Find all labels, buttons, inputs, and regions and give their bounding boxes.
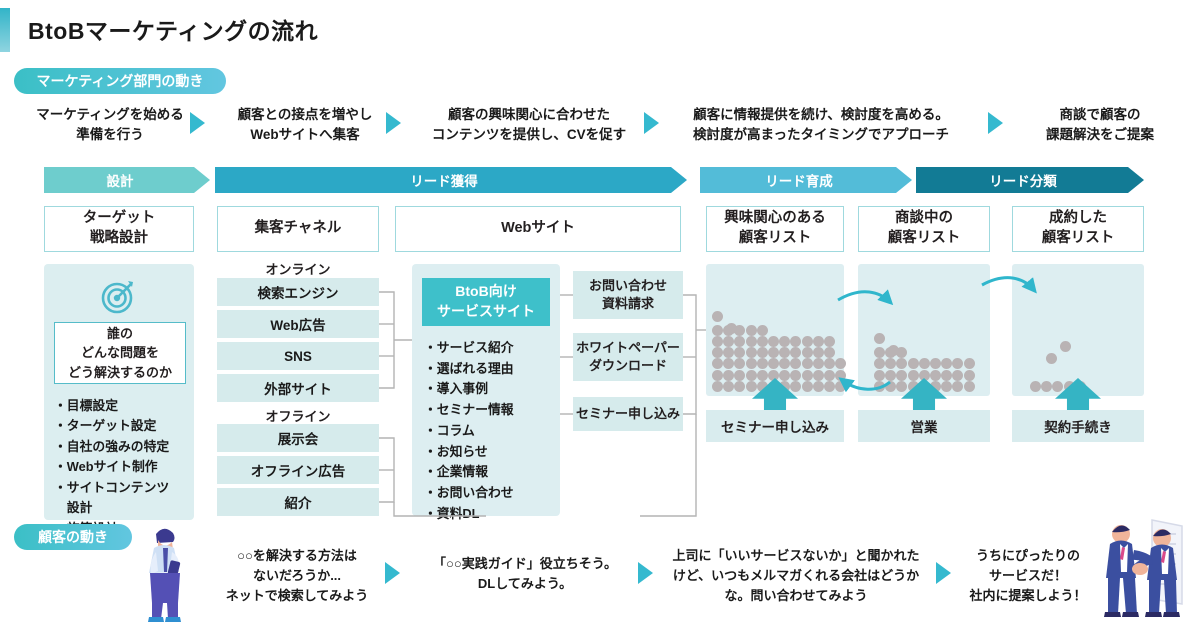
lead-dot (813, 336, 824, 347)
journey-arrow-3 (936, 562, 951, 584)
marketing-step-3-line2: コンテンツを提供し、CVを促す (404, 125, 654, 145)
step-arrow-1 (190, 112, 205, 134)
journey-4-line2: サービスだ！ (958, 566, 1098, 586)
lead-dot (835, 358, 846, 369)
step-arrow-3 (644, 112, 659, 134)
lead-dot (941, 370, 952, 381)
journey-1-line2: ないだろうか... (192, 566, 402, 586)
diagram-canvas: BtoBマーケティングの流れ マーケティング部門の動き マーケティングを始める … (0, 0, 1200, 630)
lead-dot (757, 325, 768, 336)
channel-chip-web-ads: Web広告 (217, 310, 379, 338)
lead-dot (874, 381, 885, 392)
btob-service-site-header: BtoB向け サービスサイト (422, 278, 550, 326)
journey-arrow-1 (385, 562, 400, 584)
journey-3-line3: な。問い合わせてみよう (658, 586, 934, 606)
lead-dot (779, 370, 790, 381)
header-box-interested-line1: 興味関心のある (724, 209, 826, 229)
stage-ribbon-design-label: 設計 (107, 170, 134, 190)
header-box-interested-line2: 顧客リスト (724, 229, 826, 249)
lead-dot (726, 323, 737, 334)
lead-dot (930, 370, 941, 381)
lead-dot (790, 370, 801, 381)
website-content-7: ・企業情報 (424, 462, 556, 483)
lead-dot (952, 370, 963, 381)
stage-ribbon-lead-classification-label: リード分類 (989, 170, 1057, 190)
lead-dot (802, 381, 813, 392)
step-arrow-2 (386, 112, 401, 134)
website-content-8: ・お問い合わせ (424, 483, 556, 504)
marketing-step-1-line2: 準備を行う (10, 125, 210, 145)
cv-box-1-line1: お問い合わせ (589, 277, 667, 295)
lead-dot (723, 370, 734, 381)
marketing-step-2: 顧客との接点を増やし Webサイトへ集客 (210, 105, 400, 144)
header-box-negotiation-line2: 顧客リスト (888, 229, 961, 249)
step-arrow-4 (988, 112, 1003, 134)
design-bullet-5: ・サイトコンテンツ (54, 478, 194, 498)
funnel-panel-contracted (1012, 264, 1144, 396)
lead-dot (723, 381, 734, 392)
channel-chip-search-engine: 検索エンジン (217, 278, 379, 306)
lead-dot (885, 370, 896, 381)
lead-dot (896, 370, 907, 381)
lead-dot (1041, 381, 1052, 392)
funnel-foot-sales: 営業 (858, 410, 990, 442)
lead-dot (1060, 341, 1071, 352)
lead-dot (802, 347, 813, 358)
channel-group-offline-label: オフライン (217, 406, 379, 425)
lead-dot (964, 370, 975, 381)
website-content-5: ・コラム (424, 421, 556, 442)
lead-dot (712, 325, 723, 336)
stage-ribbon-lead-acquisition-label: リード獲得 (410, 170, 478, 190)
marketing-step-2-line1: 顧客との接点を増やし (210, 105, 400, 125)
stage-ribbon-lead-nurturing: リード育成 (700, 167, 912, 193)
two-businessmen-handshake-illustration (1090, 512, 1194, 620)
journey-text-1: ○○を解決する方法は ないだろうか... ネットで検索してみよう (192, 546, 402, 606)
lead-dot (712, 311, 723, 322)
header-box-website: Webサイト (395, 206, 681, 252)
cv-box-seminar-application: セミナー申し込み (573, 397, 683, 431)
journey-3-line2: けど、いつもメルマガくれる会社はどうか (658, 566, 934, 586)
target-icon (100, 277, 138, 315)
marketing-step-4: 顧客に情報提供を続け、検討度を高める。 検討度が高まったタイミングでアプローチ (660, 105, 982, 144)
website-content-4: ・セミナー情報 (424, 400, 556, 421)
design-bullet-1: ・目標設定 (54, 396, 194, 416)
lead-dot (757, 370, 768, 381)
journey-2-line1: 「○○実践ガイド」役立ちそう。 (410, 554, 640, 574)
header-box-target-strategy-line2: 戦略設計 (83, 229, 156, 249)
header-box-contracted-customer-list: 成約した 顧客リスト (1012, 206, 1144, 252)
marketing-step-3: 顧客の興味関心に合わせた コンテンツを提供し、CVを促す (404, 105, 654, 144)
stage-ribbon-lead-acquisition: リード獲得 (215, 167, 687, 193)
journey-3-line1: 上司に「いいサービスないか」と聞かれた (658, 546, 934, 566)
marketing-step-4-line1: 顧客に情報提供を続け、検討度を高める。 (660, 105, 982, 125)
stage-ribbon-lead-nurturing-label: リード育成 (765, 170, 833, 190)
lead-dot (746, 370, 757, 381)
marketing-step-1: マーケティングを始める 準備を行う (10, 105, 210, 144)
cv-box-contact-document-request: お問い合わせ 資料請求 (573, 271, 683, 319)
title-accent-bar (0, 8, 10, 52)
website-content-3: ・導入事例 (424, 379, 556, 400)
stage-ribbon-design: 設計 (44, 167, 210, 193)
btob-service-site-line2: サービスサイト (437, 302, 535, 322)
header-box-website-line1: Webサイト (501, 219, 575, 239)
lead-dot (835, 381, 846, 392)
journey-text-2: 「○○実践ガイド」役立ちそう。 DLしてみよう。 (410, 554, 640, 594)
design-statement-box: 誰の どんな問題を どう解決するのか (54, 322, 186, 384)
journey-1-line1: ○○を解決する方法は (192, 546, 402, 566)
page-title: BtoBマーケティングの流れ (28, 12, 318, 46)
lead-dot (1046, 353, 1057, 364)
marketing-step-2-line2: Webサイトへ集客 (210, 125, 400, 145)
header-box-contracted-line2: 顧客リスト (1042, 229, 1115, 249)
marketing-step-4-line2: 検討度が高まったタイミングでアプローチ (660, 125, 982, 145)
journey-4-line1: うちにぴったりの (958, 546, 1098, 566)
lead-dot (746, 336, 757, 347)
lead-dot (802, 358, 813, 369)
lead-dot (813, 370, 824, 381)
header-box-acquisition-channel: 集客チャネル (217, 206, 379, 252)
website-content-6: ・お知らせ (424, 442, 556, 463)
marketing-step-5: 商談で顧客の 課題解決をご提案 (1008, 105, 1192, 144)
lead-dot (813, 347, 824, 358)
journey-4-line3: 社内に提案しよう！ (958, 586, 1098, 606)
lead-dot (1030, 381, 1041, 392)
funnel-foot-seminar-application: セミナー申し込み (706, 410, 844, 442)
journey-text-4: うちにぴったりの サービスだ！ 社内に提案しよう！ (958, 546, 1098, 606)
lead-dot (824, 370, 835, 381)
lead-dot (712, 381, 723, 392)
lead-dot (734, 370, 745, 381)
lead-dot (757, 347, 768, 358)
lead-dot (712, 370, 723, 381)
design-statement-line1: 誰の (68, 324, 172, 344)
header-box-target-strategy-line1: ターゲット (83, 209, 156, 229)
lead-dot (768, 336, 779, 347)
website-content-list: ・サービス紹介 ・選ばれる理由 ・導入事例 ・セミナー情報 ・コラム ・お知らせ… (424, 338, 556, 524)
channel-group-online-label: オンライン (217, 259, 379, 278)
btob-service-site-line1: BtoB向け (437, 282, 535, 302)
funnel-foot-contract-procedure: 契約手続き (1012, 410, 1144, 442)
lead-dot (835, 370, 846, 381)
lead-dot (824, 336, 835, 347)
lead-dot (746, 358, 757, 369)
website-content-1: ・サービス紹介 (424, 338, 556, 359)
lead-dot (802, 336, 813, 347)
lead-dot (746, 381, 757, 392)
cv-box-whitepaper-download: ホワイトペーパー ダウンロード (573, 333, 683, 381)
header-box-in-negotiation-customer-list: 商談中の 顧客リスト (858, 206, 990, 252)
journey-arrow-2 (638, 562, 653, 584)
lead-dot (802, 370, 813, 381)
channel-chip-offline-ads: オフライン広告 (217, 456, 379, 484)
header-box-target-strategy: ターゲット 戦略設計 (44, 206, 194, 252)
badge-customer-movement: 顧客の動き (14, 524, 132, 550)
design-statement-line2: どんな問題を (68, 343, 172, 363)
lead-dot (824, 381, 835, 392)
cv-box-3-line1: セミナー申し込み (576, 405, 680, 423)
marketing-step-5-line2: 課題解決をご提案 (1008, 125, 1192, 145)
badge-marketing-department: マーケティング部門の動き (14, 68, 226, 94)
lead-dot (746, 347, 757, 358)
website-content-9: ・資料DL (424, 504, 556, 525)
stage-ribbon-lead-classification: リード分類 (916, 167, 1144, 193)
person-with-smartphone-illustration (136, 518, 192, 624)
design-bullet-3: ・自社の強みの特定 (54, 437, 194, 457)
cv-box-2-line1: ホワイトペーパー (576, 339, 680, 357)
website-content-2: ・選ばれる理由 (424, 359, 556, 380)
journey-2-line2: DLしてみよう。 (410, 574, 640, 594)
journey-1-line3: ネットで検索してみよう (192, 586, 402, 606)
lead-dot (768, 370, 779, 381)
lead-dot (964, 381, 975, 392)
marketing-step-1-line1: マーケティングを始める (10, 105, 210, 125)
lead-dot (941, 381, 952, 392)
journey-text-3: 上司に「いいサービスないか」と聞かれた けど、いつもメルマガくれる会社はどうか … (658, 546, 934, 606)
lead-dot (885, 381, 896, 392)
design-bullet-2: ・ターゲット設定 (54, 416, 194, 436)
header-box-contracted-line1: 成約した (1042, 209, 1115, 229)
lead-dot (908, 370, 919, 381)
lead-dot (712, 336, 723, 347)
lead-dot (908, 358, 919, 369)
lead-dot (964, 358, 975, 369)
marketing-step-3-line1: 顧客の興味関心に合わせた (404, 105, 654, 125)
channel-chip-exhibition: 展示会 (217, 424, 379, 452)
channel-chip-sns: SNS (217, 342, 379, 370)
header-box-acquisition-channel-line1: 集客チャネル (255, 219, 342, 239)
design-bullet-4: ・Webサイト制作 (54, 457, 194, 477)
lead-dot (813, 381, 824, 392)
marketing-step-5-line1: 商談で顧客の (1008, 105, 1192, 125)
lead-dot (746, 325, 757, 336)
channel-chip-external-site: 外部サイト (217, 374, 379, 402)
header-box-negotiation-line1: 商談中の (888, 209, 961, 229)
channel-chip-referral: 紹介 (217, 488, 379, 516)
design-statement-line3: どう解決するのか (68, 363, 172, 383)
cv-box-2-line2: ダウンロード (576, 357, 680, 375)
design-bullet-6: 設計 (54, 498, 194, 518)
lead-dot (757, 336, 768, 347)
header-box-interested-customer-list: 興味関心のある 顧客リスト (706, 206, 844, 252)
cv-box-1-line2: 資料請求 (589, 295, 667, 313)
lead-dot (874, 370, 885, 381)
